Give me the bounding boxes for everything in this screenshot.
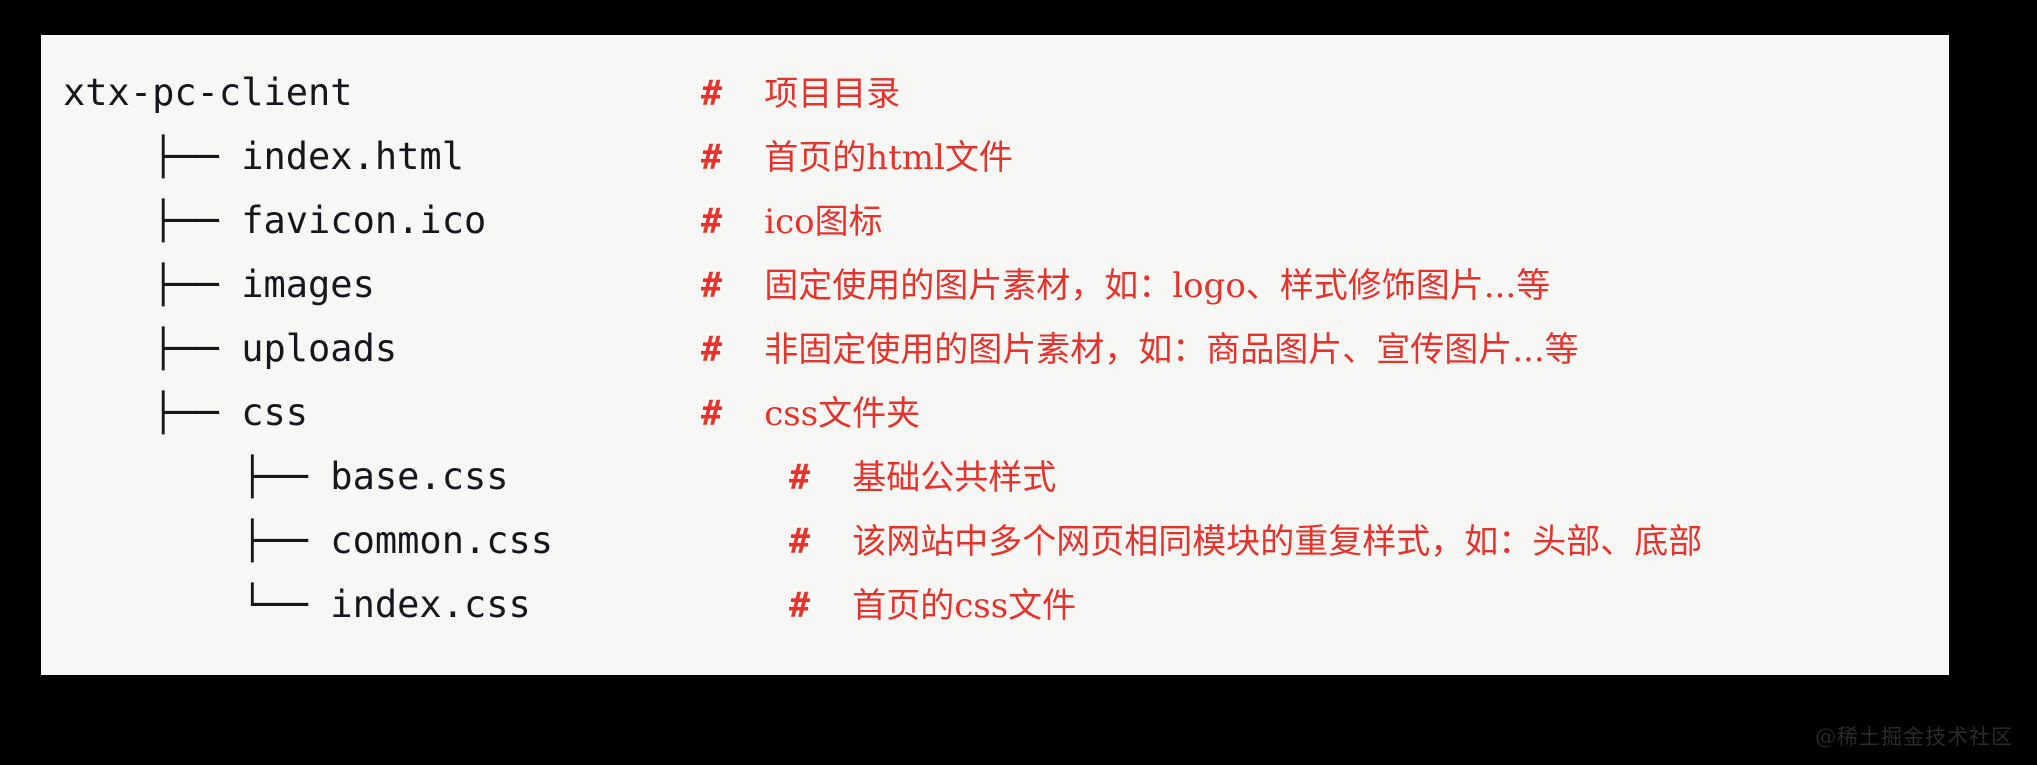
code-line: ├── css # css文件夹 xyxy=(41,381,1949,445)
tree-entry: ├── index.html xyxy=(41,125,701,189)
comment-body: 该网站中多个网页相同模块的重复样式，如：头部、底部 xyxy=(852,522,1702,562)
code-line: ├── index.html # 首页的html文件 xyxy=(41,125,1949,189)
hash-icon: # xyxy=(701,202,764,242)
comment-body: ico图标 xyxy=(764,202,882,242)
comment-text: # 首页的html文件 xyxy=(701,126,1949,190)
comment-body: 首页的html文件 xyxy=(764,138,1013,178)
hash-icon: # xyxy=(701,266,764,306)
code-line: xtx-pc-client # 项目目录 xyxy=(41,61,1949,125)
code-line: ├── images # 固定使用的图片素材，如：logo、样式修饰图片...等 xyxy=(41,253,1949,317)
code-line: └── index.css # 首页的css文件 xyxy=(41,573,1949,637)
comment-body: 首页的css文件 xyxy=(852,586,1076,626)
comment-body: 项目目录 xyxy=(764,74,900,114)
comment-text: # 固定使用的图片素材，如：logo、样式修饰图片...等 xyxy=(701,254,1949,318)
code-line: ├── common.css # 该网站中多个网页相同模块的重复样式，如：头部、… xyxy=(41,509,1949,573)
comment-text: # 该网站中多个网页相同模块的重复样式，如：头部、底部 xyxy=(701,510,1949,574)
comment-text: # 基础公共样式 xyxy=(701,446,1949,510)
code-line: ├── base.css # 基础公共样式 xyxy=(41,445,1949,509)
comment-body: css文件夹 xyxy=(764,394,920,434)
comment-body: 基础公共样式 xyxy=(852,458,1056,498)
tree-entry: └── index.css xyxy=(41,573,701,637)
code-line: ├── uploads # 非固定使用的图片素材，如：商品图片、宣传图片...等 xyxy=(41,317,1949,381)
hash-icon: # xyxy=(789,586,852,626)
hash-icon: # xyxy=(701,394,764,434)
hash-icon: # xyxy=(789,522,852,562)
comment-text: # css文件夹 xyxy=(701,382,1949,446)
comment-text: # 首页的css文件 xyxy=(701,574,1949,638)
tree-entry: ├── css xyxy=(41,381,701,445)
tree-entry: ├── images xyxy=(41,253,701,317)
hash-icon: # xyxy=(701,74,764,114)
hash-icon: # xyxy=(701,138,764,178)
tree-entry: ├── uploads xyxy=(41,317,701,381)
code-line: ├── favicon.ico # ico图标 xyxy=(41,189,1949,253)
tree-entry: ├── common.css xyxy=(41,509,701,573)
hash-icon: # xyxy=(789,458,852,498)
tree-entry: xtx-pc-client xyxy=(41,61,701,125)
watermark-text: @稀土掘金技术社区 xyxy=(1815,721,2013,751)
comment-body: 固定使用的图片素材，如：logo、样式修饰图片...等 xyxy=(764,266,1550,306)
hash-icon: # xyxy=(701,330,764,370)
page-root: xtx-pc-client # 项目目录 ├── index.html # 首页… xyxy=(0,0,2037,765)
tree-entry: ├── favicon.ico xyxy=(41,189,701,253)
comment-text: # ico图标 xyxy=(701,190,1949,254)
comment-body: 非固定使用的图片素材，如：商品图片、宣传图片...等 xyxy=(764,330,1578,370)
comment-text: # 非固定使用的图片素材，如：商品图片、宣传图片...等 xyxy=(701,318,1949,382)
comment-text: # 项目目录 xyxy=(701,62,1949,126)
tree-entry: ├── base.css xyxy=(41,445,701,509)
code-block-panel: xtx-pc-client # 项目目录 ├── index.html # 首页… xyxy=(41,35,1949,675)
